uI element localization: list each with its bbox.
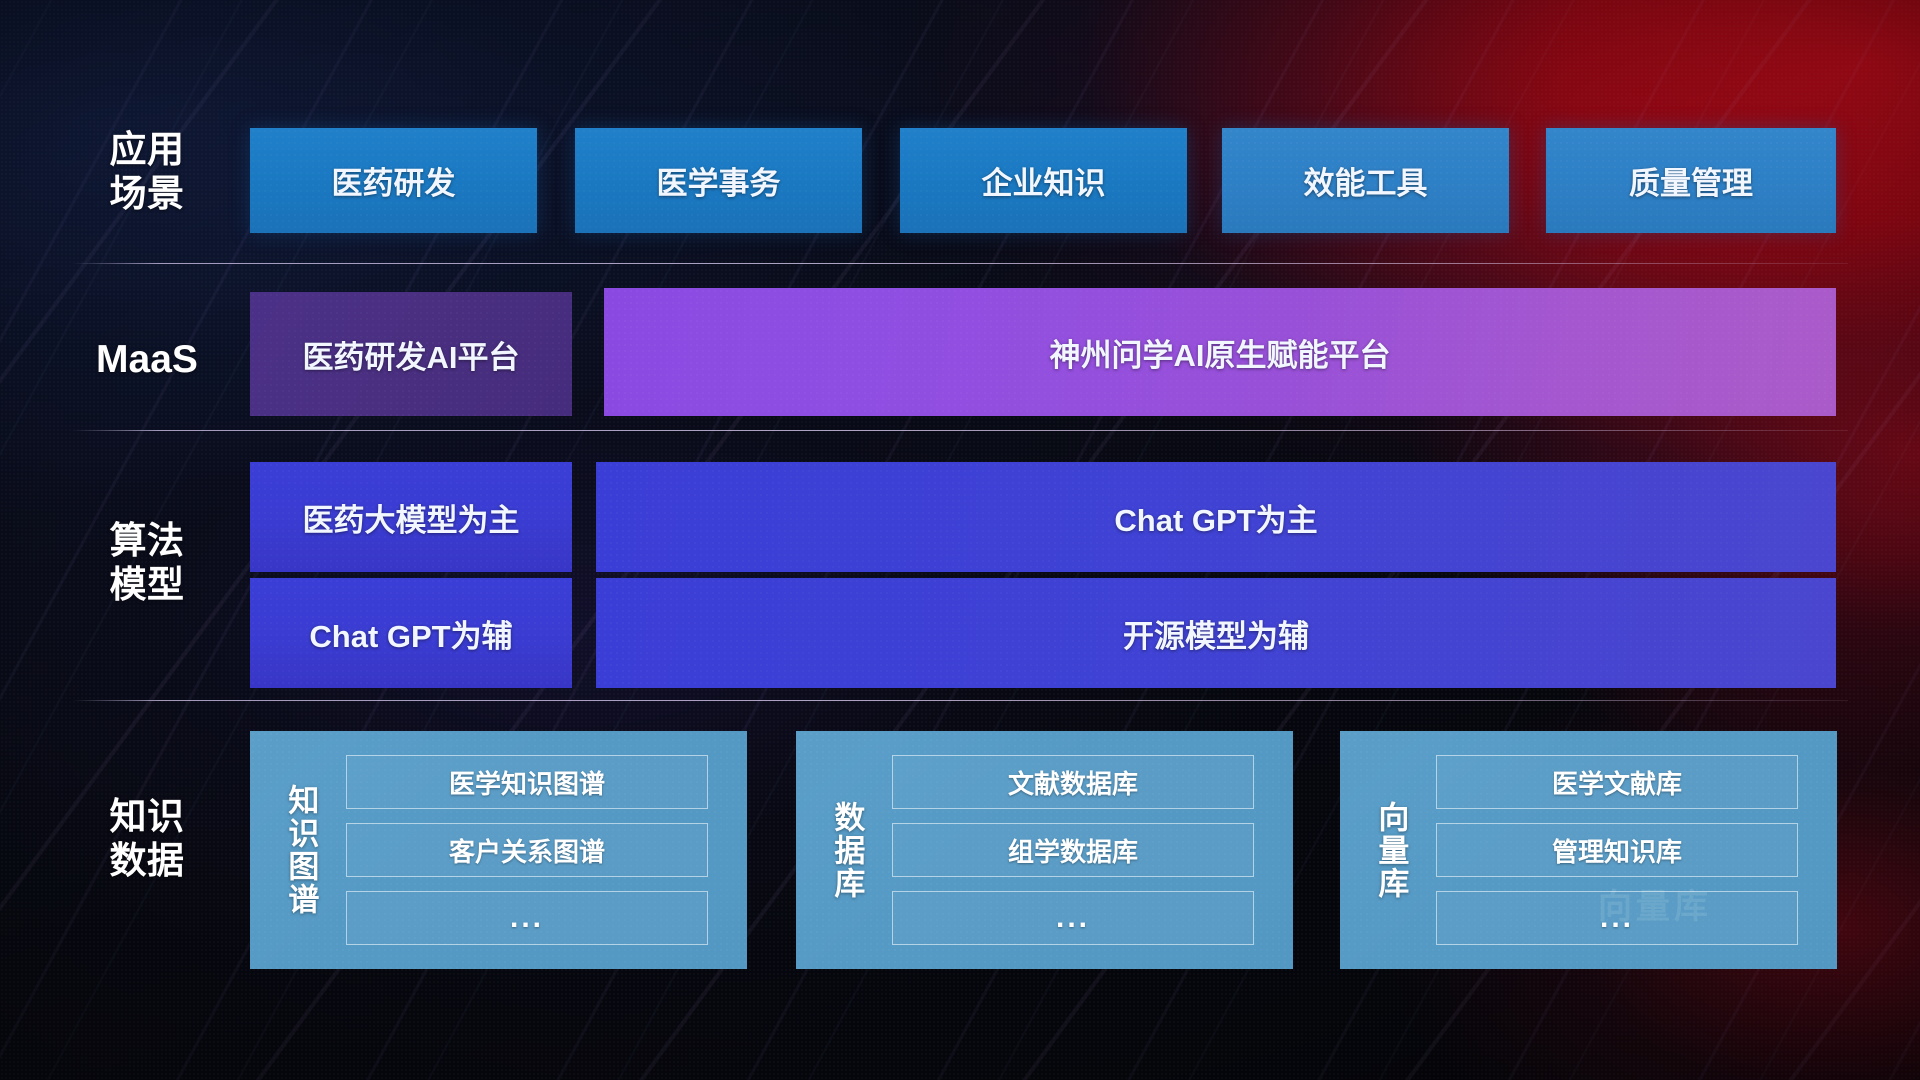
tile-algo-chatgpt-primary[interactable]: Chat GPT为主 bbox=[596, 462, 1836, 572]
row-label-application-scenarios: 应用 场景 bbox=[72, 128, 222, 215]
row-label-line-1: 算法 bbox=[72, 519, 222, 563]
row-label-algorithm-model: 算法 模型 bbox=[72, 519, 222, 606]
architecture-layers: 应用 场景 医药研发 医学事务 企业知识 效能工具 质量管理 MaaS bbox=[0, 0, 1920, 1080]
panel-item-list: 文献数据库 组学数据库 ... bbox=[892, 755, 1254, 945]
panel-item-management-knowledge-store[interactable]: 管理知识库 bbox=[1436, 823, 1798, 877]
tile-label: 医学事务 bbox=[657, 158, 781, 203]
tile-algo-chatgpt-secondary[interactable]: Chat GPT为辅 bbox=[250, 578, 572, 688]
panel-item-customer-relation-graph[interactable]: 客户关系图谱 bbox=[346, 823, 708, 877]
divider-after-maas bbox=[72, 430, 1848, 431]
tile-label: 医药大模型为主 bbox=[303, 495, 520, 540]
row-label-line-1: 知识 bbox=[72, 795, 222, 839]
tile-app-enterprise-knowledge[interactable]: 企业知识 bbox=[900, 128, 1187, 233]
tile-label: 效能工具 bbox=[1304, 158, 1428, 203]
row-label-text: MaaS bbox=[72, 337, 222, 383]
row-label-maas: MaaS bbox=[72, 337, 222, 383]
row-label-line-2: 数据 bbox=[72, 839, 222, 883]
panel-vector-store[interactable]: 向量库 向量库 医学文献库 管理知识库 ... bbox=[1340, 731, 1837, 969]
panel-vertical-label: 知识图谱 bbox=[280, 750, 320, 950]
panel-item-more[interactable]: ... bbox=[892, 891, 1254, 945]
diagram-canvas: 应用 场景 医药研发 医学事务 企业知识 效能工具 质量管理 MaaS bbox=[0, 0, 1920, 1080]
panel-item-literature-database[interactable]: 文献数据库 bbox=[892, 755, 1254, 809]
panel-item-more[interactable]: ... bbox=[346, 891, 708, 945]
row-label-line-1: 应用 bbox=[72, 128, 222, 172]
panel-item-omics-database[interactable]: 组学数据库 bbox=[892, 823, 1254, 877]
tile-label: 医药研发 bbox=[332, 158, 456, 203]
tile-algo-drug-llm-primary[interactable]: 医药大模型为主 bbox=[250, 462, 572, 572]
row-label-line-2: 模型 bbox=[72, 563, 222, 607]
panel-item-list: 医学文献库 管理知识库 ... bbox=[1436, 755, 1798, 945]
tile-label: 开源模型为辅 bbox=[1123, 611, 1309, 656]
panel-item-more[interactable]: ... bbox=[1436, 891, 1798, 945]
tile-label: 质量管理 bbox=[1629, 158, 1753, 203]
tile-label: 企业知识 bbox=[982, 158, 1106, 203]
tile-maas-drug-rd-ai-platform[interactable]: 医药研发AI平台 bbox=[250, 292, 572, 416]
tile-label: Chat GPT为辅 bbox=[309, 611, 512, 656]
tile-app-medical-affairs[interactable]: 医学事务 bbox=[575, 128, 862, 233]
tile-label: 医药研发AI平台 bbox=[303, 332, 520, 377]
tile-algo-opensource-secondary[interactable]: 开源模型为辅 bbox=[596, 578, 1836, 688]
tile-label: 神州问学AI原生赋能平台 bbox=[1050, 330, 1391, 375]
row-label-line-2: 场景 bbox=[72, 172, 222, 216]
row-label-knowledge-data: 知识 数据 bbox=[72, 795, 222, 882]
tile-app-quality-management[interactable]: 质量管理 bbox=[1546, 128, 1836, 233]
panel-vertical-label: 数据库 bbox=[826, 763, 866, 938]
divider-after-application-scenarios bbox=[72, 263, 1848, 264]
tile-label: Chat GPT为主 bbox=[1114, 495, 1317, 540]
panel-item-list: 医学知识图谱 客户关系图谱 ... bbox=[346, 755, 708, 945]
panel-item-medical-literature-store[interactable]: 医学文献库 bbox=[1436, 755, 1798, 809]
panel-knowledge-graph[interactable]: 知识图谱 医学知识图谱 客户关系图谱 ... bbox=[250, 731, 747, 969]
tile-app-drug-rd[interactable]: 医药研发 bbox=[250, 128, 537, 233]
tile-maas-shenzhou-wenxue-platform[interactable]: 神州问学AI原生赋能平台 bbox=[604, 288, 1836, 416]
panel-database[interactable]: 数据库 文献数据库 组学数据库 ... bbox=[796, 731, 1293, 969]
tile-app-efficiency-tools[interactable]: 效能工具 bbox=[1222, 128, 1509, 233]
divider-after-algorithm-model bbox=[72, 700, 1848, 701]
panel-item-medical-knowledge-graph[interactable]: 医学知识图谱 bbox=[346, 755, 708, 809]
panel-vertical-label: 向量库 bbox=[1370, 763, 1410, 938]
